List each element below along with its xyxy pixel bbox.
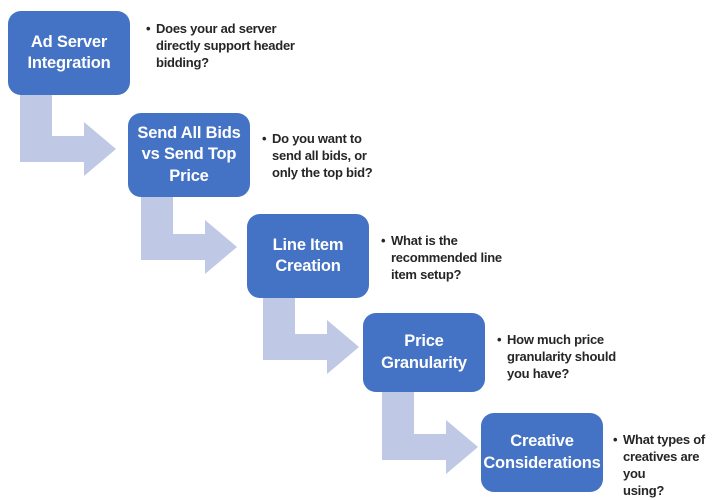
step-box-line-item-creation[interactable]: Line Item Creation [247,214,369,298]
note-text-ad-server-integration: Does your ad server directly support hea… [146,20,296,71]
connector-2-arrow [133,190,241,270]
connector-3-arrow [255,290,363,370]
bullet-icon: • [613,431,617,448]
step-box-creative-considerations[interactable]: Creative Considerations [481,413,603,492]
flow-diagram-canvas: Ad Server Integration • Does your ad ser… [0,0,723,500]
bullet-icon: • [381,232,385,249]
note-ad-server-integration: • Does your ad server directly support h… [146,20,296,71]
note-send-all-bids-vs-send-top-price: • Do you want to send all bids, or only … [262,130,402,181]
step-box-ad-server-integration[interactable]: Ad Server Integration [8,11,130,95]
bullet-icon: • [262,130,266,147]
step-label-ad-server-integration: Ad Server Integration [27,32,110,75]
connector-1-arrow [12,92,120,172]
connector-4-arrow [374,390,482,470]
note-price-granularity: • How much price granularity should you … [497,331,642,382]
step-label-send-all-bids-vs-send-top-price: Send All Bids vs Send Top Price [137,123,240,187]
note-text-send-all-bids-vs-send-top-price: Do you want to send all bids, or only th… [262,130,402,181]
step-label-creative-considerations: Creative Considerations [483,431,600,474]
note-text-line-item-creation: What is the recommended line item setup? [381,232,526,283]
note-text-price-granularity: How much price granularity should you ha… [497,331,642,382]
step-box-price-granularity[interactable]: Price Granularity [363,313,485,392]
step-label-price-granularity: Price Granularity [381,331,467,374]
note-line-item-creation: • What is the recommended line item setu… [381,232,526,283]
bullet-icon: • [497,331,501,348]
bullet-icon: • [146,20,150,37]
step-box-send-all-bids-vs-send-top-price[interactable]: Send All Bids vs Send Top Price [128,113,250,197]
note-creative-considerations: • What types of creatives are you using? [613,431,723,500]
note-text-creative-considerations: What types of creatives are you using? [613,431,723,500]
step-label-line-item-creation: Line Item Creation [273,235,344,278]
